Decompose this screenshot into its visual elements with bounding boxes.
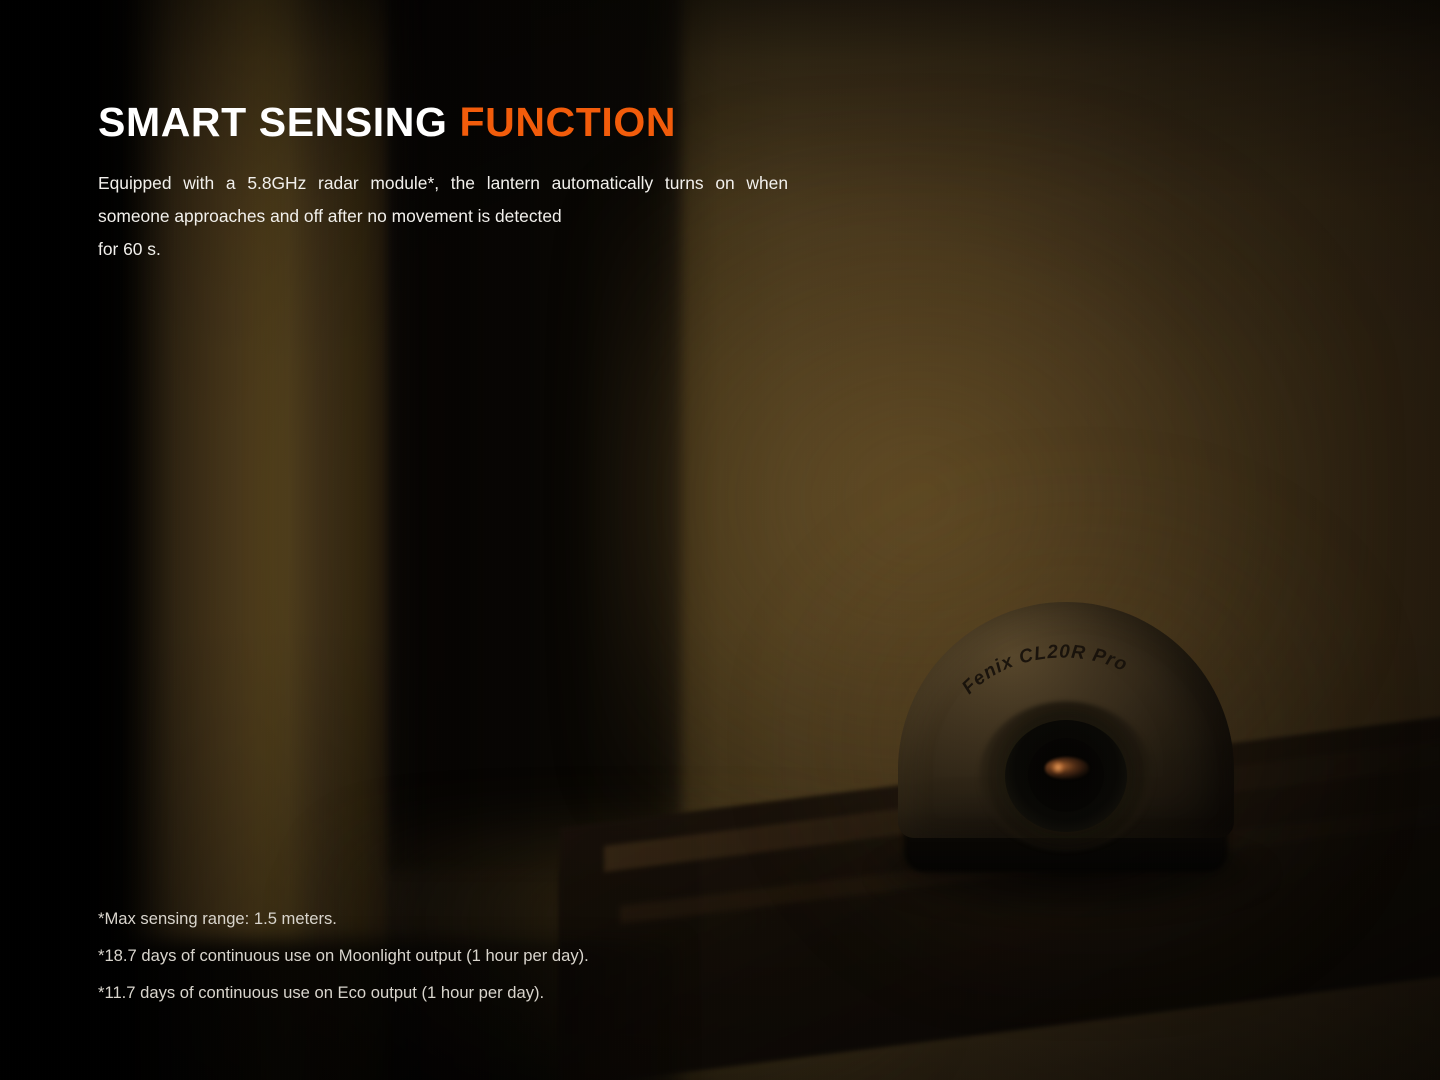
lantern-brand-label: Fenix CL20R Pro: [958, 642, 1131, 699]
body-line-3: for 60 s.: [98, 233, 788, 266]
fenix-cl20r-pro-lantern: Fenix CL20R Pro: [898, 602, 1234, 852]
page-title-primary: SMART SENSING: [98, 99, 459, 145]
product-marketing-slide: Fenix CL20R Pro SMART SENSING FUNCTION E…: [0, 0, 1440, 1080]
footnote-item: *11.7 days of continuous use on Eco outp…: [98, 974, 858, 1011]
lantern-led-core: [1051, 761, 1065, 774]
body-line-1: Equipped with a 5.8GHz radar module*, th…: [98, 173, 704, 193]
page-title-accent: FUNCTION: [459, 99, 676, 145]
body-paragraph: Equipped with a 5.8GHz radar module*, th…: [98, 167, 788, 266]
footnote-item: *Max sensing range: 1.5 meters.: [98, 900, 858, 937]
footnote-list: *Max sensing range: 1.5 meters. *18.7 da…: [98, 900, 858, 1011]
footnote-item: *18.7 days of continuous use on Moonligh…: [98, 937, 858, 974]
headline-block: SMART SENSING FUNCTION Equipped with a 5…: [98, 100, 798, 266]
page-title: SMART SENSING FUNCTION: [98, 100, 798, 146]
